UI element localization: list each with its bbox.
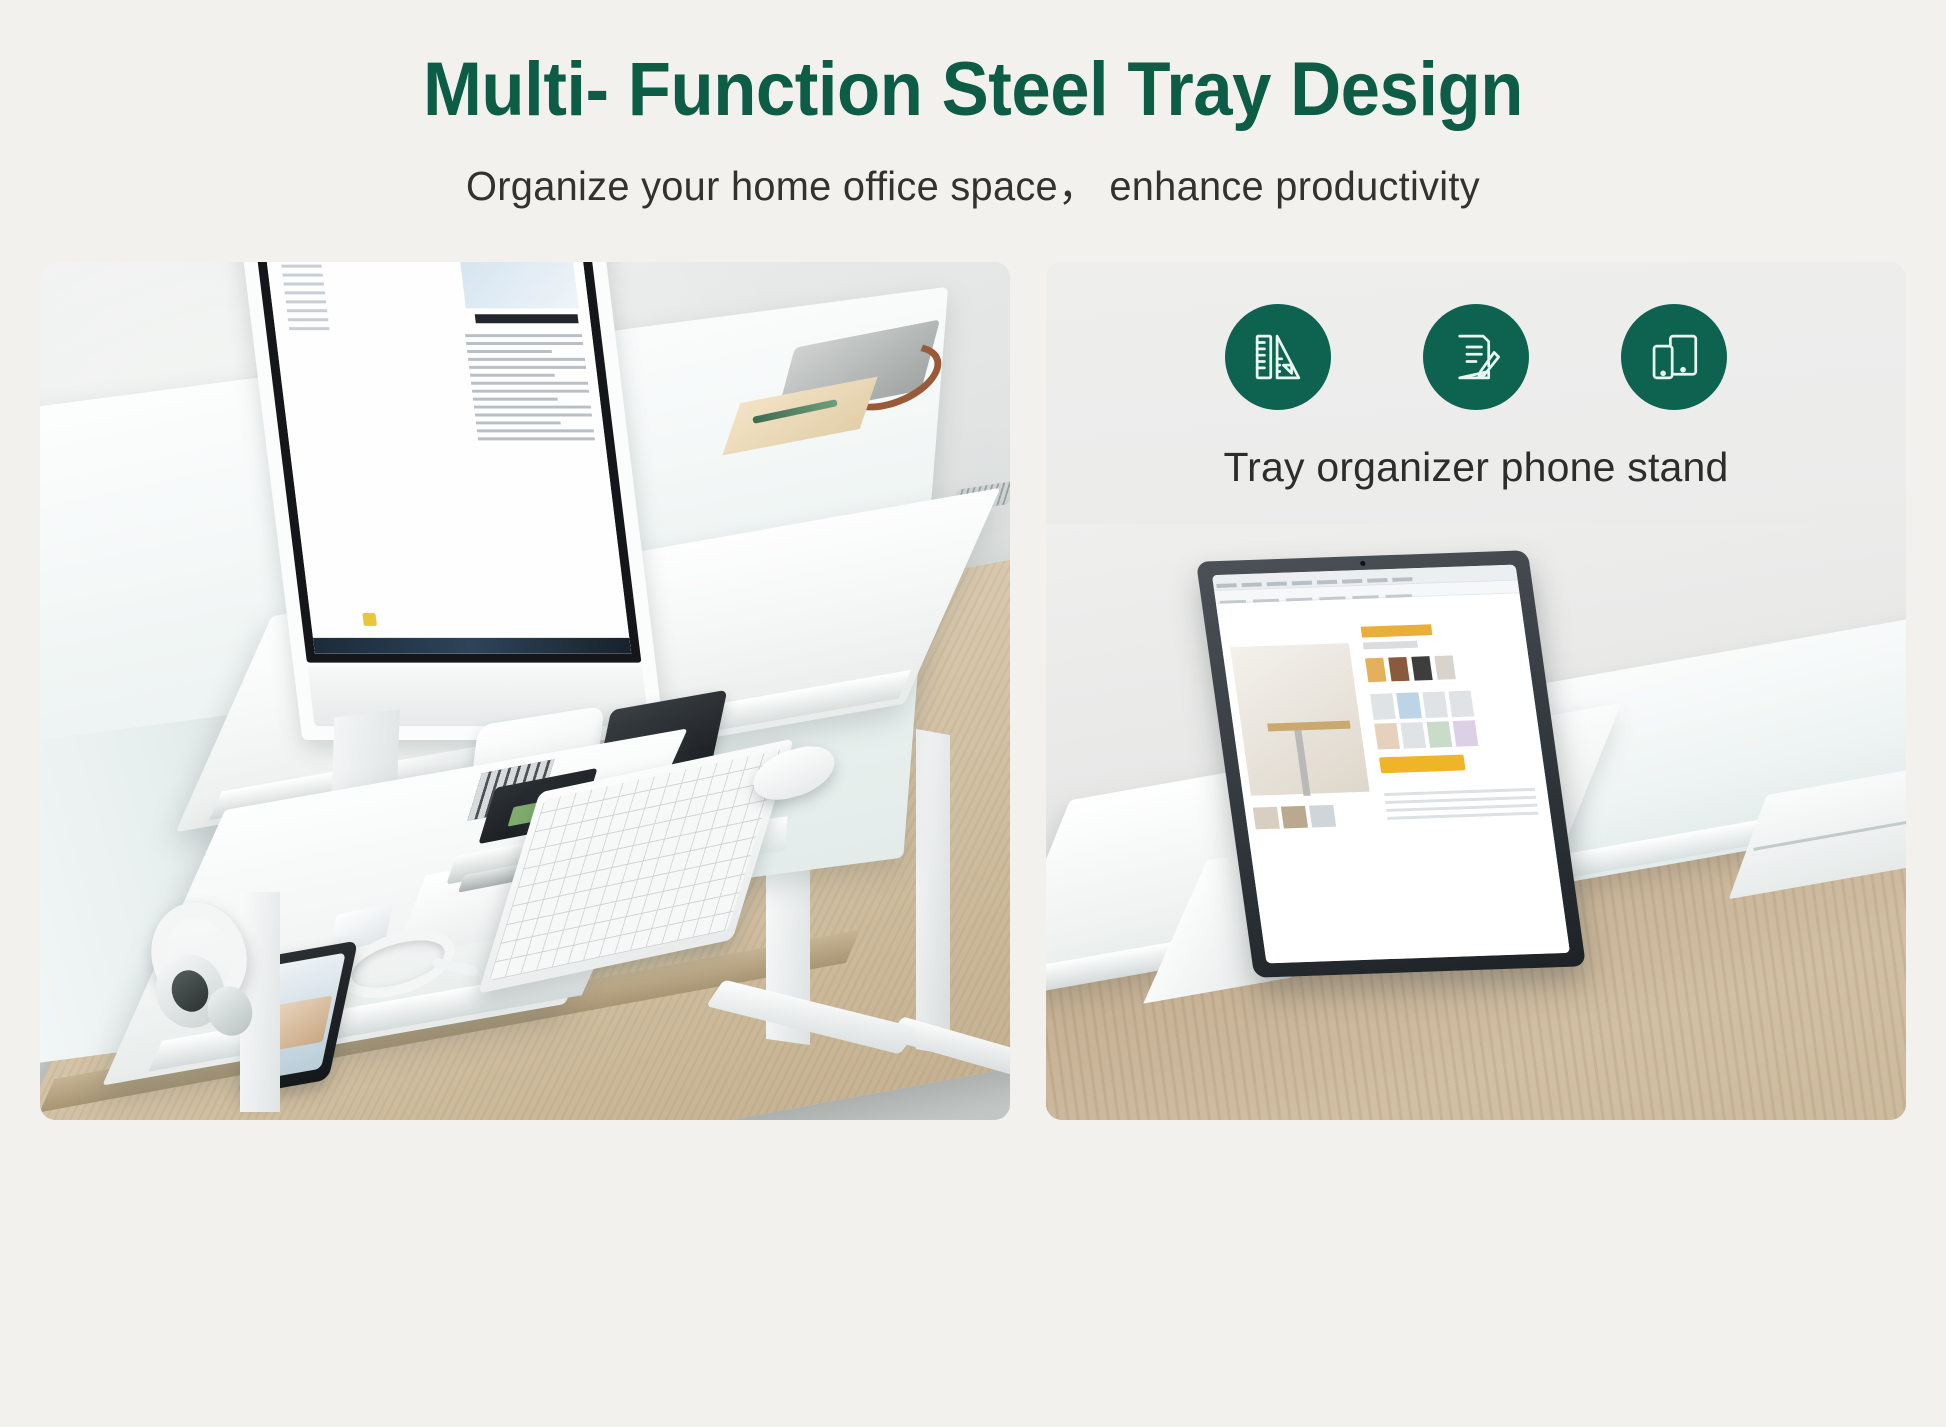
tablet-on-tray-stand-photo [1046, 524, 1906, 1120]
tablet [1196, 550, 1586, 977]
document-left-column [281, 265, 330, 336]
feature-icon-row [1046, 304, 1906, 410]
feature-caption: Tray organizer phone stand [1046, 444, 1906, 491]
color-swatches [1365, 655, 1456, 682]
variant-grid [1370, 691, 1478, 750]
page-subtitle: Organize your home office space， enhance… [29, 152, 1917, 212]
desk-illustration [1267, 721, 1360, 799]
tablet-screen [1212, 565, 1570, 964]
phone-tablet-icon [1621, 304, 1727, 410]
monitor-screen [255, 262, 642, 663]
feature-panel: Tray organizer phone stand [1046, 262, 1906, 1120]
thumbnail-strip [1253, 805, 1336, 830]
desk-setup-photo [40, 262, 1010, 1120]
panels-row: Tray organizer phone stand [40, 262, 1906, 1120]
document-image [459, 262, 579, 308]
price-subtext [1363, 641, 1418, 650]
tablet-camera [1360, 561, 1366, 566]
price-label [1361, 624, 1433, 637]
document-on-screen [265, 262, 632, 654]
document-header-bar [475, 314, 579, 323]
shopping-page [1216, 593, 1570, 963]
desk-leg-right [916, 729, 950, 1055]
add-to-cart-button [1379, 755, 1466, 774]
document-pencil-icon [1423, 304, 1529, 410]
page-title: Multi- Function Steel Tray Design [68, 52, 1878, 128]
product-hero-image [1230, 643, 1369, 796]
screen-yellow-marker [362, 613, 377, 626]
header: Multi- Function Steel Tray Design Organi… [0, 0, 1946, 212]
description-lines [1384, 788, 1539, 825]
os-dock [313, 638, 631, 654]
monitor [239, 262, 665, 740]
document-text-lines [465, 334, 596, 445]
ruler-set-square-icon [1225, 304, 1331, 410]
